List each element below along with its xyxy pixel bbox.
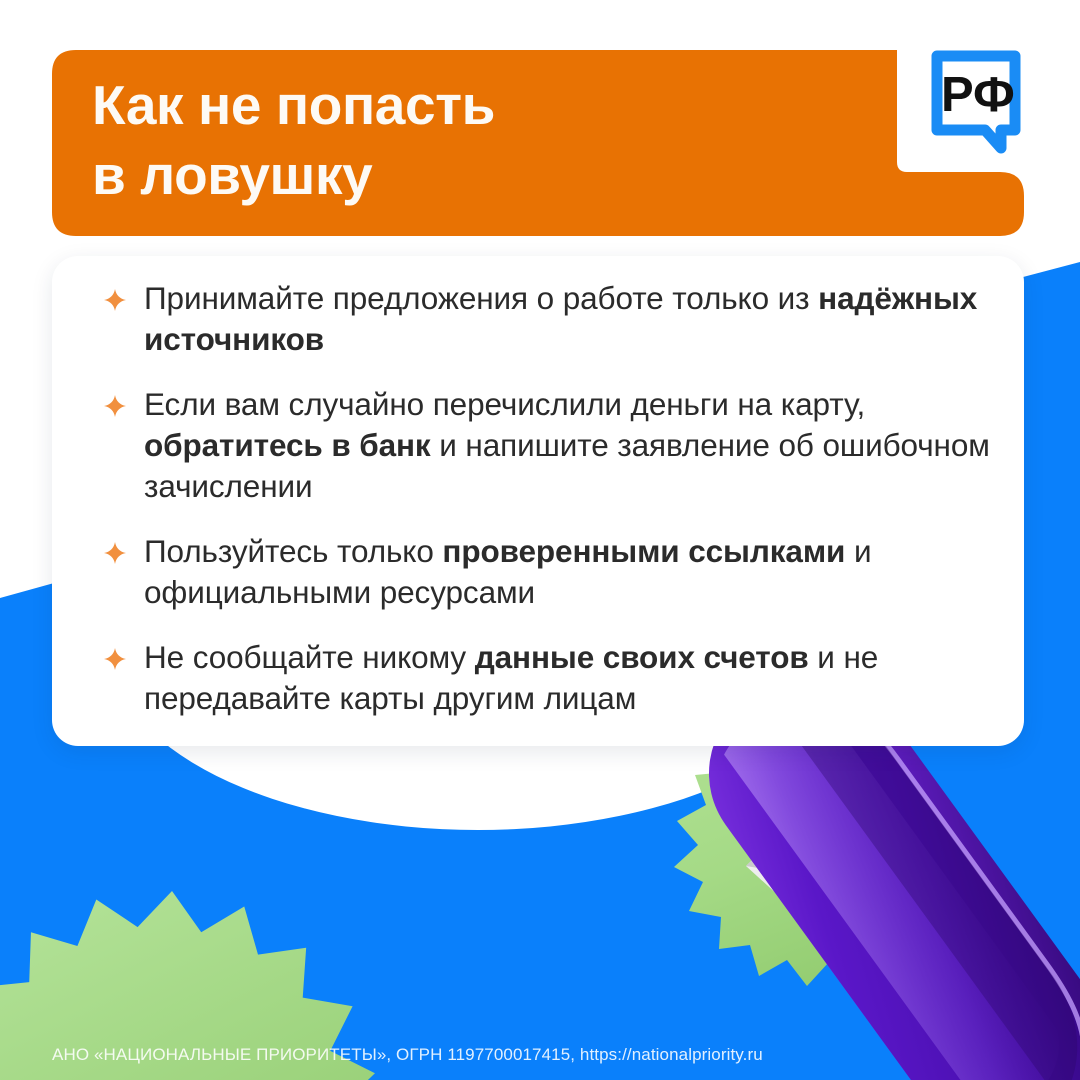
legal-footer: АНО «НАЦИОНАЛЬНЫЕ ПРИОРИТЕТЫ», ОГРН 1197… — [52, 1045, 952, 1065]
list-item-text: Если вам случайно перечислили деньги на … — [144, 386, 990, 503]
rf-logo-text: РФ — [941, 68, 1015, 122]
infographic-canvas: Как не попасть в ловушку РФ Принимайте п… — [0, 0, 1080, 1080]
diamond-bullet-icon — [104, 289, 126, 311]
list-item: Пользуйтесь только проверенными ссылками… — [102, 531, 1002, 612]
diamond-bullet-icon — [104, 395, 126, 417]
list-item: Не сообщайте никому данные своих счетов … — [102, 637, 1002, 718]
list-item-text: Пользуйтесь только проверенными ссылками… — [144, 533, 871, 610]
content-card: Принимайте предложения о работе только и… — [52, 256, 1024, 746]
header-card: Как не попасть в ловушку — [52, 50, 1024, 236]
diamond-bullet-icon — [104, 542, 126, 564]
list-item: Если вам случайно перечислили деньги на … — [102, 384, 1002, 506]
list-item-text: Принимайте предложения о работе только и… — [144, 280, 977, 357]
page-title: Как не попасть в ловушку — [92, 70, 832, 211]
advice-list: Принимайте предложения о работе только и… — [102, 278, 1002, 719]
list-item: Принимайте предложения о работе только и… — [102, 278, 1002, 359]
rf-logo: РФ — [923, 44, 1029, 162]
list-item-text: Не сообщайте никому данные своих счетов … — [144, 639, 878, 716]
diamond-bullet-icon — [104, 648, 126, 670]
